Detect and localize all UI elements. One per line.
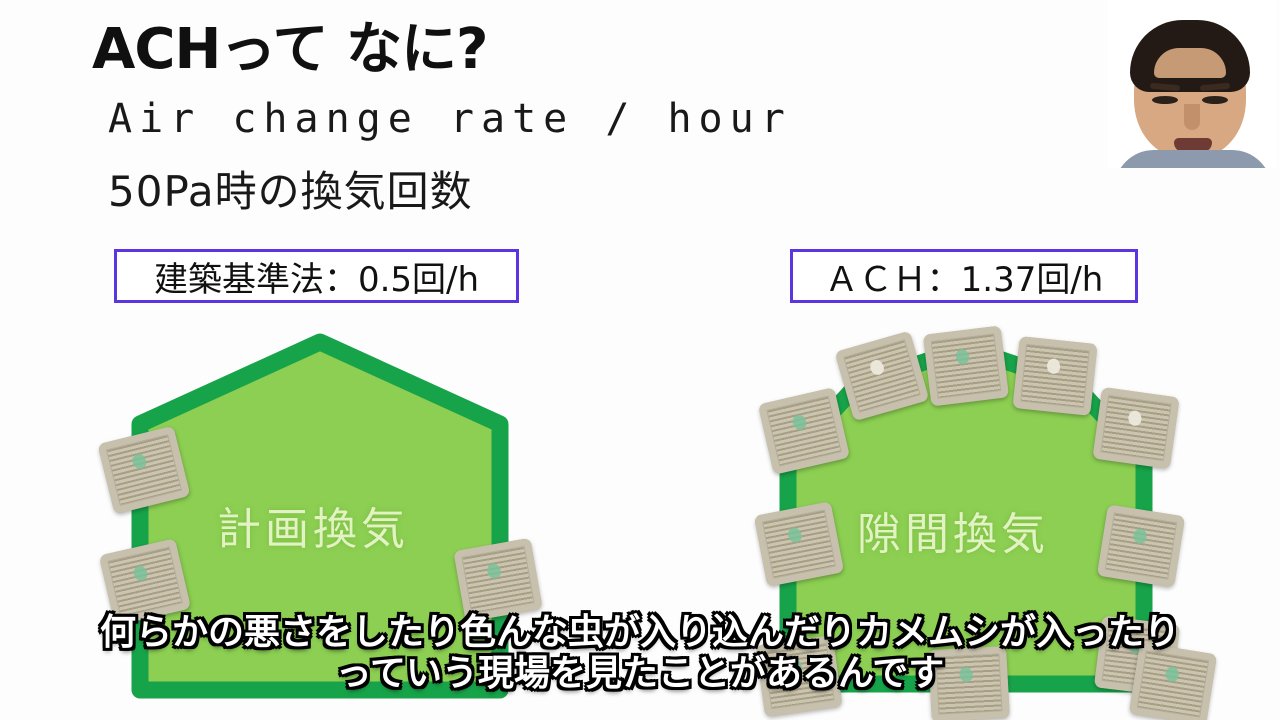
slide-canvas: ACHって なに? Air change rate / hour 50Pa時の換…	[0, 0, 1280, 720]
vent-frame	[453, 538, 542, 622]
vent-frame	[928, 646, 1010, 720]
vent-frame	[1092, 387, 1179, 469]
planned-ventilation-label: 計画換気	[217, 493, 409, 557]
vent-frame	[1097, 504, 1185, 587]
vent-frame	[754, 501, 844, 587]
vent-unit	[1129, 642, 1217, 720]
vent-frame	[1012, 336, 1097, 416]
webcam-nose	[1184, 104, 1200, 130]
webcam-eye-left	[1152, 96, 1178, 104]
webcam-shoulders	[1114, 150, 1272, 168]
vent-unit	[453, 538, 542, 622]
presenter-webcam-overlay	[1108, 0, 1276, 168]
ach-value-box: ＡＣＨ：1.37回/h	[790, 249, 1138, 303]
subtitle-english: Air change rate / hour	[108, 96, 792, 142]
vent-unit	[928, 646, 1010, 720]
vent-unit	[754, 501, 844, 587]
vent-frame	[755, 635, 842, 717]
vent-unit	[755, 635, 842, 717]
subtitle-japanese: 50Pa時の換気回数	[108, 158, 473, 219]
vent-frame	[923, 326, 1009, 407]
building-code-value-box: 建築基準法：0.5回/h	[114, 249, 519, 303]
page-title: ACHって なに?	[92, 4, 488, 85]
vent-unit	[1092, 387, 1179, 469]
gap-ventilation-label: 隙間換気	[857, 498, 1049, 562]
vent-unit	[923, 326, 1009, 407]
vent-unit	[1097, 504, 1185, 587]
vent-unit	[1012, 336, 1097, 416]
webcam-hair	[1130, 20, 1250, 92]
webcam-eye-right	[1202, 96, 1228, 104]
